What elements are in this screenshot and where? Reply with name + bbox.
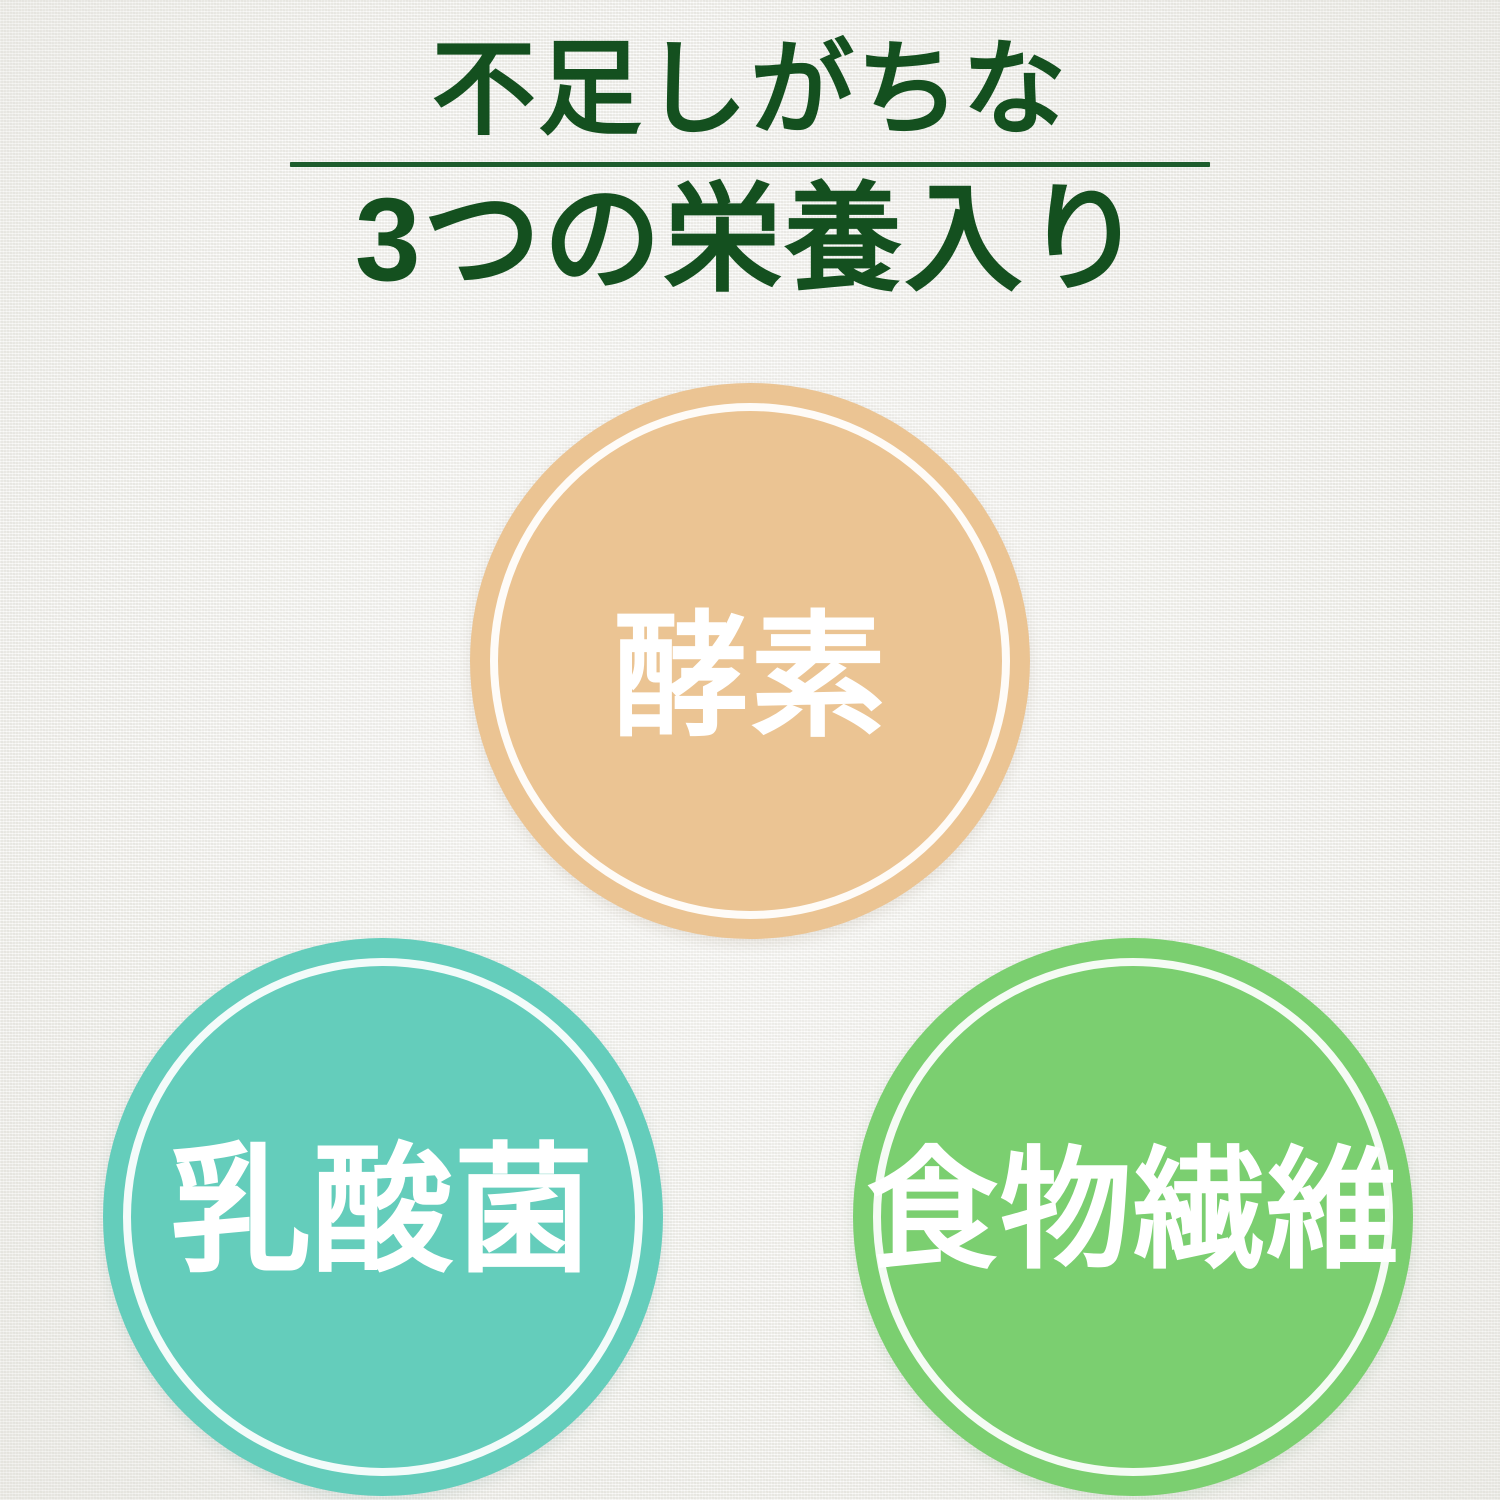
nutrient-label-enzyme: 酵素 <box>613 609 888 745</box>
nutrient-circle-enzyme: 酵素 <box>470 383 1030 939</box>
headline-divider-rule <box>290 162 1210 167</box>
headline-line-secondary: 3つの栄養入り <box>0 177 1500 299</box>
nutrient-circle-lactic-acid-bacteria: 乳酸菌 <box>103 938 663 1496</box>
headline-block: 不足しがちな 3つの栄養入り <box>0 38 1500 299</box>
headline-line-primary: 不足しがちな <box>0 38 1500 148</box>
nutrient-label-dietary-fiber: 食物繊維 <box>866 1145 1399 1277</box>
nutrient-circle-dietary-fiber: 食物繊維 <box>853 938 1413 1496</box>
nutrient-label-lactic-acid-bacteria: 乳酸菌 <box>171 1141 595 1281</box>
nutrition-poster: 不足しがちな 3つの栄養入り 酵素 乳酸菌 食物繊維 <box>0 0 1500 1500</box>
